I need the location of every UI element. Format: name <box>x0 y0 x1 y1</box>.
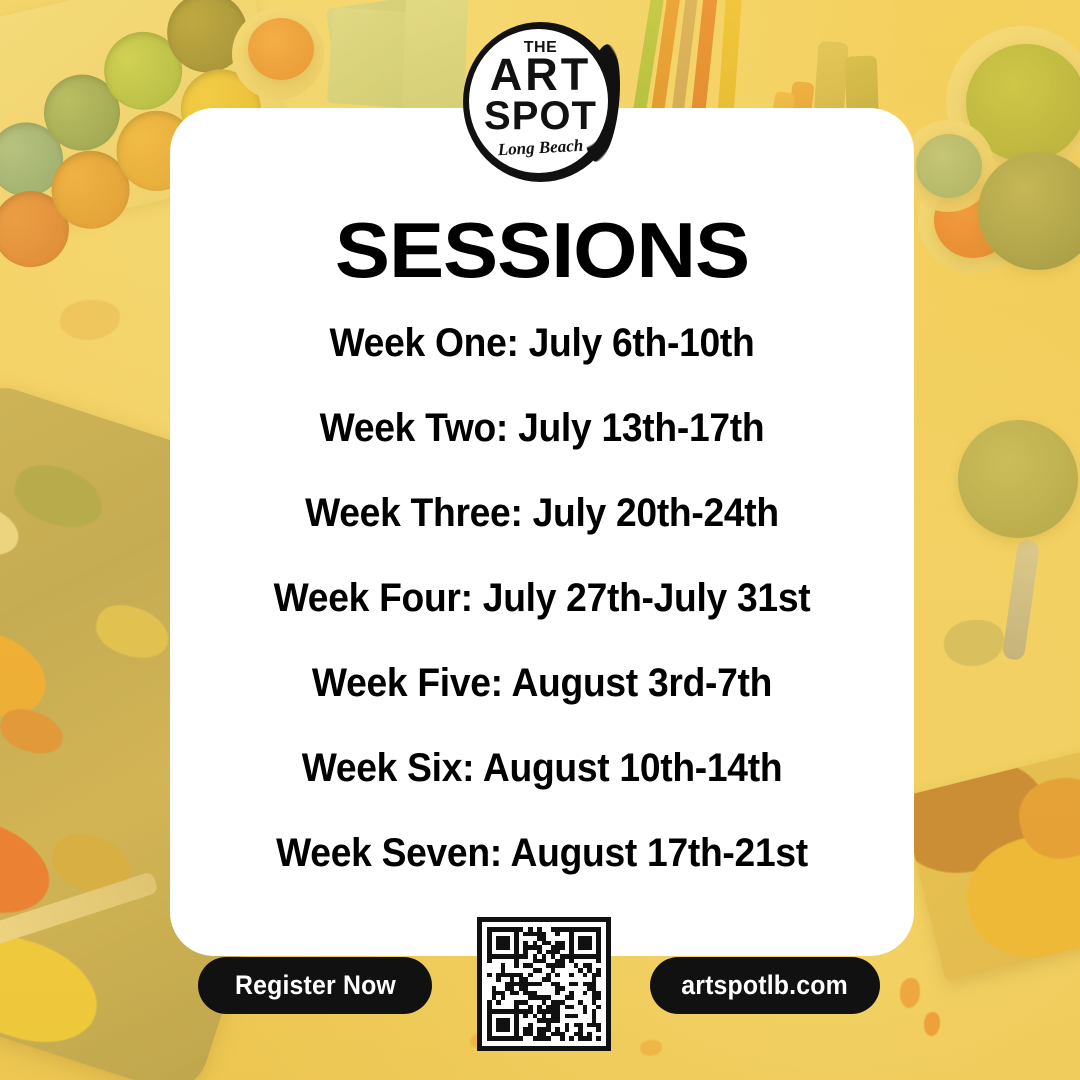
list-item: Week Five: August 3rd-7th <box>196 640 888 725</box>
website-button[interactable]: artspotlb.com <box>650 957 880 1014</box>
list-item: Week One: July 6th-10th <box>196 300 888 385</box>
page-title: SESSIONS <box>148 205 937 296</box>
qr-code[interactable] <box>477 917 611 1051</box>
list-item: Week Four: July 27th-July 31st <box>196 555 888 640</box>
logo-text-spot: SPOT <box>463 96 618 136</box>
list-item: Week Two: July 13th-17th <box>196 385 888 470</box>
register-now-button[interactable]: Register Now <box>198 957 432 1014</box>
qr-quiet-zone <box>482 922 606 1046</box>
qr-modules <box>487 927 601 1041</box>
list-item: Week Six: August 10th-14th <box>196 725 888 810</box>
sessions-list: Week One: July 6th-10th Week Two: July 1… <box>170 300 914 895</box>
list-item: Week Three: July 20th-24th <box>196 470 888 555</box>
register-now-label: Register Now <box>235 970 396 1001</box>
logo-text-art: ART <box>463 52 618 97</box>
list-item: Week Seven: August 17th-21st <box>196 810 888 895</box>
art-spot-logo: THE ART SPOT Long Beach <box>463 22 618 182</box>
website-label: artspotlb.com <box>682 970 849 1001</box>
